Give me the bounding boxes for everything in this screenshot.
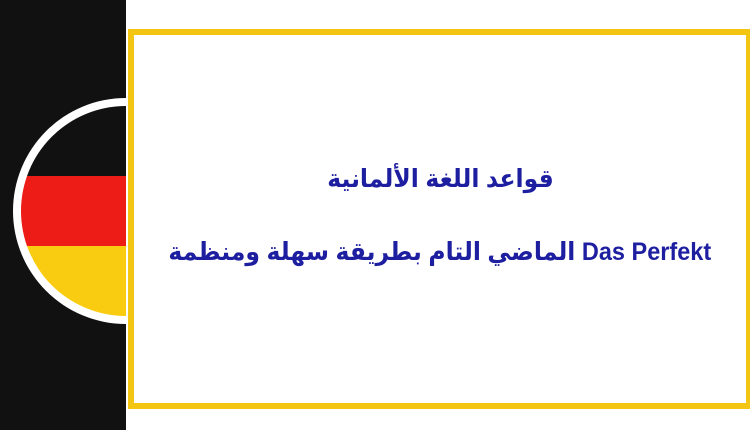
headline-text-block: قواعد اللغة الألمانية Das Perfekt الماضي… bbox=[134, 35, 746, 397]
german-flag-bands bbox=[21, 106, 126, 316]
german-flag-roundel-icon bbox=[13, 98, 126, 324]
page-subtitle: Das Perfekt الماضي التام بطريقة سهلة ومن… bbox=[169, 237, 712, 268]
poster-canvas: قواعد اللغة الألمانية Das Perfekt الماضي… bbox=[0, 0, 750, 430]
flag-band-red bbox=[21, 176, 126, 246]
flag-band-black bbox=[21, 106, 126, 176]
left-black-panel bbox=[0, 0, 126, 430]
flag-band-gold bbox=[21, 246, 126, 316]
page-title: قواعد اللغة الألمانية bbox=[327, 164, 553, 195]
